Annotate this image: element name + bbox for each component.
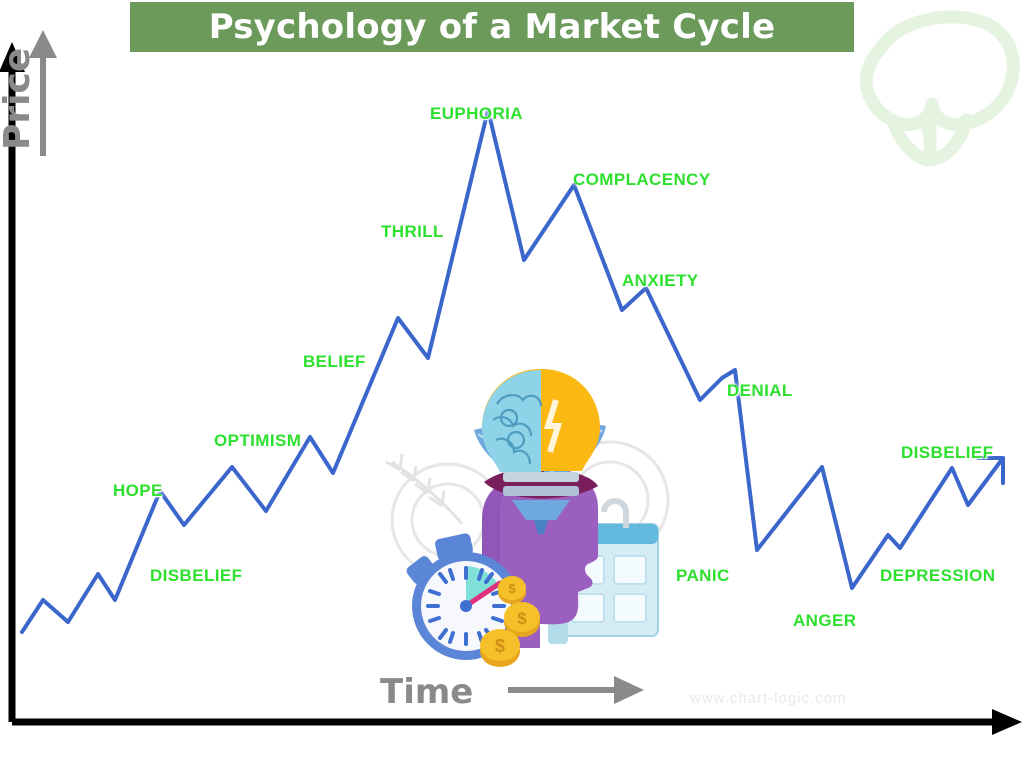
phase-label-hope-1: HOPE [113, 481, 163, 501]
phase-label-belief-3: BELIEF [303, 352, 366, 372]
phase-label-disbelief-12: DISBELIEF [901, 443, 993, 463]
y-axis-label: Price [0, 48, 38, 150]
x-axis-label: Time [380, 672, 473, 712]
phase-label-anxiety-7: ANXIETY [622, 271, 698, 291]
svg-text:$: $ [517, 609, 527, 628]
phase-label-complacency-6: COMPLACENCY [573, 170, 711, 190]
svg-text:$: $ [495, 636, 505, 656]
phase-label-thrill-4: THRILL [381, 222, 444, 242]
phase-label-depression-11: DEPRESSION [880, 566, 995, 586]
footer-watermark: www.chart-logic.com [690, 690, 847, 707]
chart-canvas: $ $ $ [0, 0, 1024, 768]
title-banner: Psychology of a Market Cycle [130, 2, 854, 52]
phase-label-panic-9: PANIC [676, 566, 730, 586]
phase-label-denial-8: DENIAL [727, 381, 793, 401]
phase-label-anger-10: ANGER [793, 611, 856, 631]
phase-label-disbelief-0: DISBELIEF [150, 566, 242, 586]
phase-label-euphoria-5: EUPHORIA [430, 104, 523, 124]
phase-label-optimism-2: OPTIMISM [214, 431, 301, 451]
svg-text:$: $ [508, 581, 516, 596]
page-title: Psychology of a Market Cycle [209, 7, 776, 47]
